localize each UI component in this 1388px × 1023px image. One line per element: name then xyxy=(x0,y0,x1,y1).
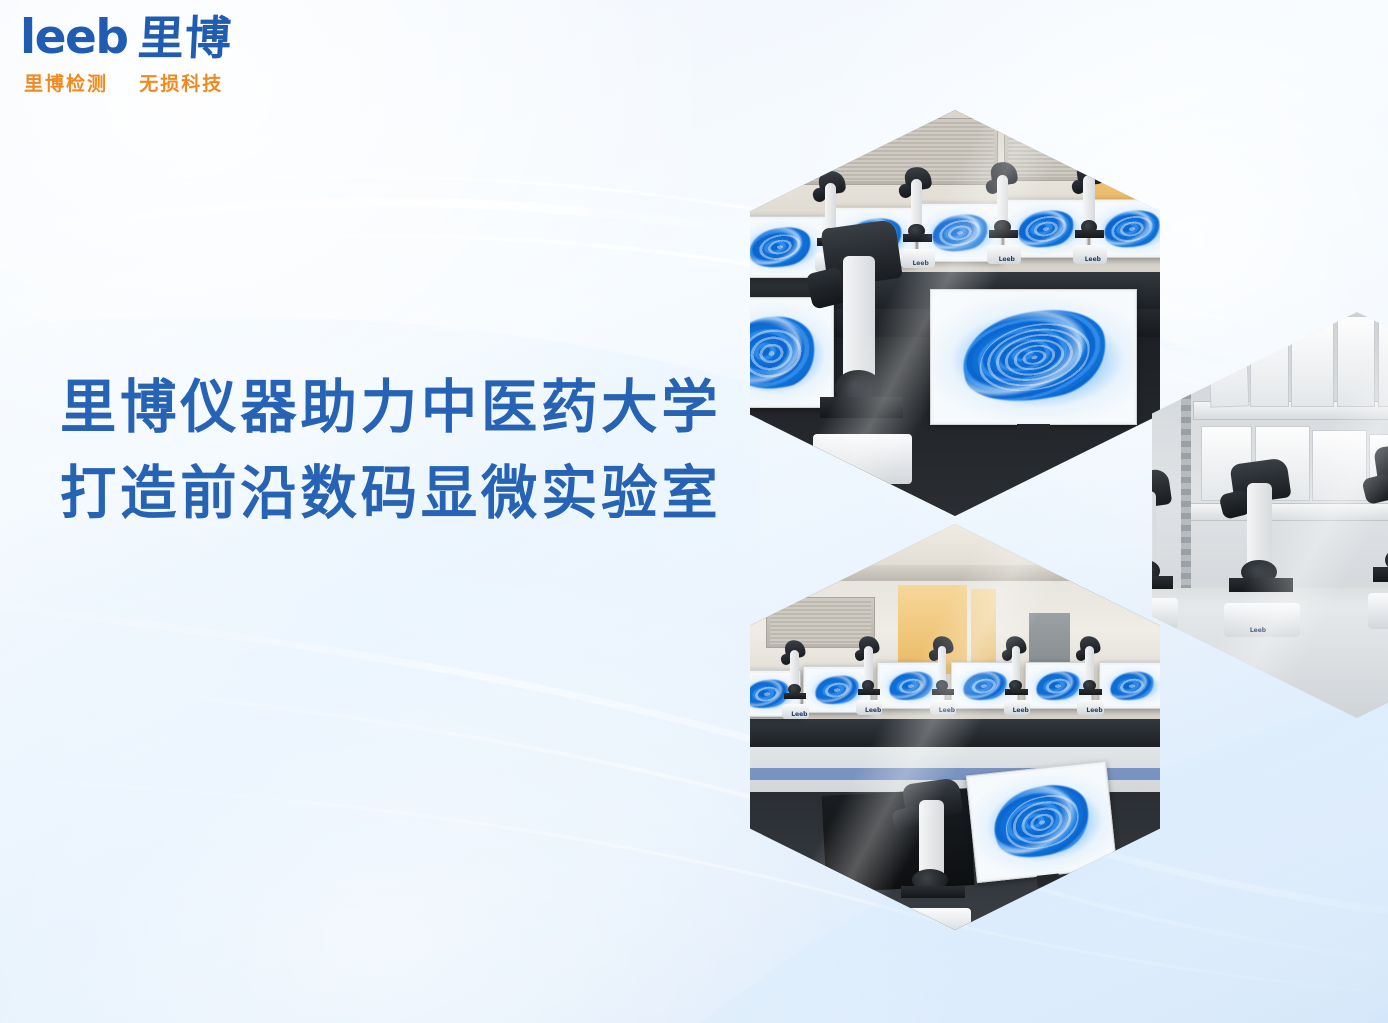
photo-hexagon-lab-overview xyxy=(750,524,1160,930)
logo-tagline-left: 里博检测 xyxy=(24,73,108,95)
logo-chinese-text: 里博 xyxy=(136,15,232,61)
logo-wordmark: leeb 里博 xyxy=(20,14,320,61)
headline-block: 里博仪器助力中医药大学 打造前沿数码显微实验室 xyxy=(60,364,760,536)
headline-line-2: 打造前沿数码显微实验室 xyxy=(60,450,739,536)
promo-banner: leeb 里博 里博检测 无损科技 里博仪器助力中医药大学 打造前沿数码显微实验… xyxy=(0,0,1388,1023)
logo-latin-text: leeb xyxy=(20,14,128,61)
logo-tagline: 里博检测 无损科技 xyxy=(24,69,320,96)
photo-hexagon-microscope-storage xyxy=(1152,312,1388,718)
logo-tagline-right: 无损科技 xyxy=(139,73,223,95)
photo-hexagon-lab-workstation xyxy=(750,110,1160,516)
brand-logo[interactable]: leeb 里博 里博检测 无损科技 xyxy=(20,14,320,96)
headline-line-1: 里博仪器助力中医药大学 xyxy=(60,364,739,450)
